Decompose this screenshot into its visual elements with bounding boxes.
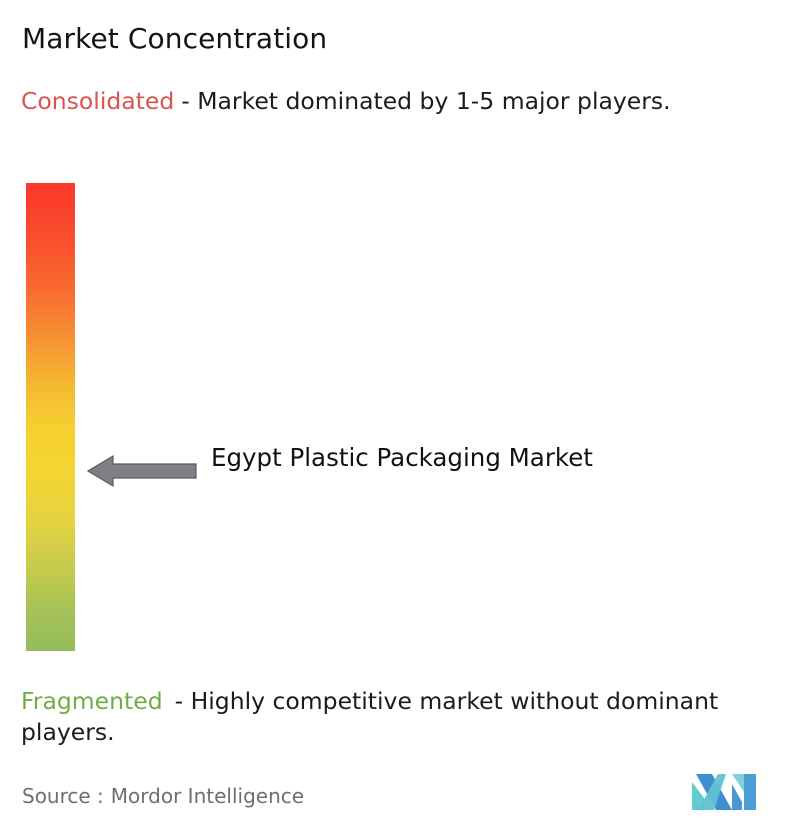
source-attribution: Source :Mordor Intelligence [22,783,304,809]
concentration-gradient-bar [26,183,75,651]
source-value: Mordor Intelligence [111,784,304,808]
consolidated-caption: Consolidated- Market dominated by 1-5 ma… [21,86,773,117]
mordor-intelligence-logo-icon [692,770,756,816]
fragmented-caption: Fragmented- Highly competitive market wi… [21,686,787,748]
source-label: Source : [22,784,104,808]
market-position-arrow-icon [87,452,197,490]
fragmented-keyword: Fragmented [21,687,163,715]
consolidated-description: - Market dominated by 1-5 major players. [181,87,670,115]
market-label: Egypt Plastic Packaging Market [211,440,631,475]
page-title: Market Concentration [22,22,327,56]
market-concentration-figure: Market Concentration Consolidated- Marke… [0,0,796,834]
consolidated-keyword: Consolidated [21,87,174,115]
